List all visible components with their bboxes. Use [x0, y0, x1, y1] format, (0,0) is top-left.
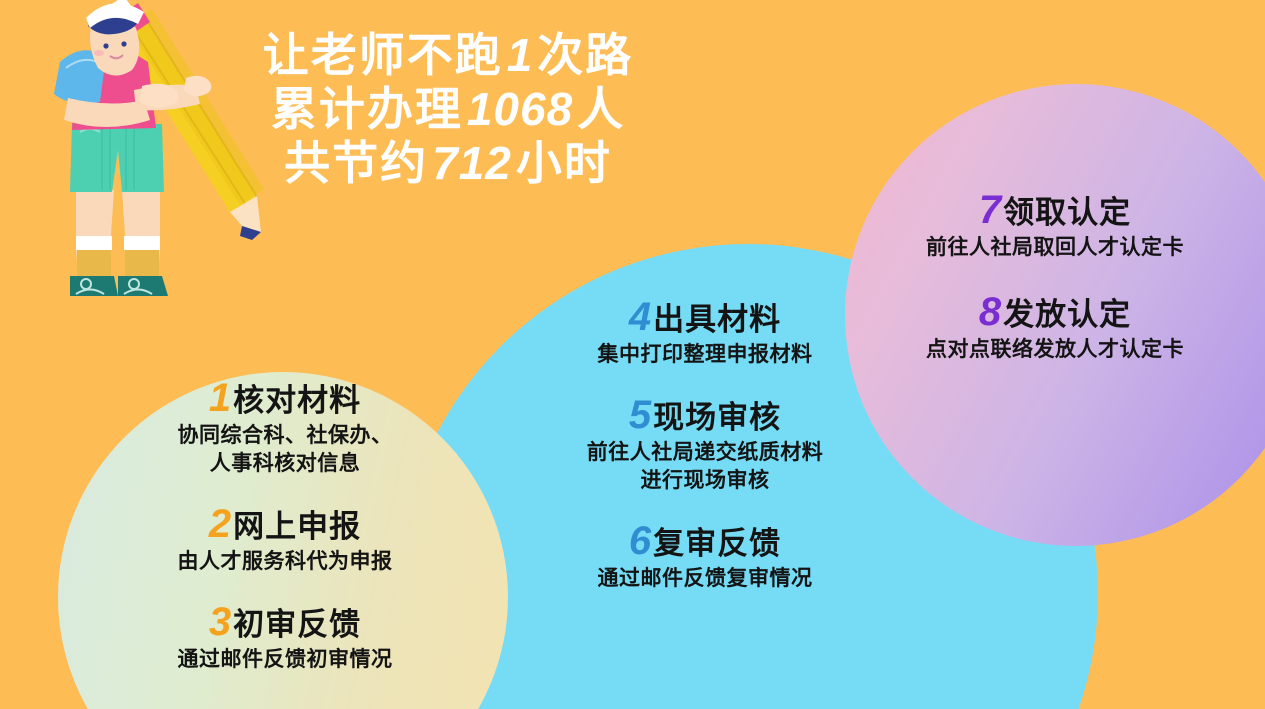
- step-title-2: 网上申报: [233, 511, 361, 542]
- step-heading-6: 6复审反馈: [540, 521, 870, 561]
- step-heading-7: 7领取认定: [890, 190, 1220, 230]
- step-number-8: 8: [979, 292, 1001, 332]
- step-heading-1: 1核对材料: [120, 378, 450, 418]
- headline-line-2-text-b: 人: [577, 83, 625, 135]
- step-group-1: 1核对材料协同综合科、社保办、人事科核对信息2网上申报由人才服务科代为申报3初审…: [120, 378, 450, 700]
- headline-line-1-text-a: 让老师不跑: [263, 29, 503, 81]
- headline-line-3: 共节约712小时: [238, 136, 658, 190]
- step-description-4-line-1: 集中打印整理申报材料: [540, 341, 870, 369]
- headline-line-3-text-b: 小时: [516, 137, 612, 189]
- step-description-5-line-2: 进行现场审核: [540, 467, 870, 495]
- step-description-5-line-1: 前往人社局递交纸质材料: [540, 439, 870, 467]
- headline-line-2-number: 1068: [463, 83, 577, 135]
- step-item-8: 8发放认定点对点联络发放人才认定卡: [890, 292, 1220, 364]
- headline-line-1-number: 1: [503, 29, 538, 81]
- headline-line-3-text-a: 共节约: [284, 137, 428, 189]
- step-group-3: 7领取认定前往人社局取回人才认定卡8发放认定点对点联络发放人才认定卡: [890, 190, 1220, 394]
- step-number-5: 5: [629, 395, 651, 435]
- step-heading-8: 8发放认定: [890, 292, 1220, 332]
- step-number-6: 6: [629, 521, 651, 561]
- step-title-8: 发放认定: [1003, 299, 1131, 330]
- step-heading-2: 2网上申报: [120, 504, 450, 544]
- headline-block: 让老师不跑1次路 累计办理1068人 共节约712小时: [238, 28, 658, 190]
- step-item-6: 6复审反馈通过邮件反馈复审情况: [540, 521, 870, 593]
- headline-line-2-text-a: 累计办理: [271, 83, 463, 135]
- infographic-poster: 让老师不跑1次路 累计办理1068人 共节约712小时 1核对材料协同综合科、社…: [0, 0, 1265, 709]
- headline-line-3-number: 712: [428, 137, 516, 189]
- step-number-1: 1: [209, 378, 231, 418]
- step-item-5: 5现场审核前往人社局递交纸质材料进行现场审核: [540, 395, 870, 495]
- headline-line-2: 累计办理1068人: [238, 82, 658, 136]
- step-group-2: 4出具材料集中打印整理申报材料5现场审核前往人社局递交纸质材料进行现场审核6复审…: [540, 297, 870, 619]
- step-number-7: 7: [979, 190, 1001, 230]
- step-item-7: 7领取认定前往人社局取回人才认定卡: [890, 190, 1220, 262]
- step-title-4: 出具材料: [653, 304, 781, 335]
- step-item-4: 4出具材料集中打印整理申报材料: [540, 297, 870, 369]
- step-number-4: 4: [629, 297, 651, 337]
- step-title-6: 复审反馈: [653, 528, 781, 559]
- step-heading-4: 4出具材料: [540, 297, 870, 337]
- step-heading-3: 3初审反馈: [120, 602, 450, 642]
- step-number-2: 2: [209, 504, 231, 544]
- step-description-1-line-1: 协同综合科、社保办、: [120, 422, 450, 450]
- step-description-3-line-1: 通过邮件反馈初审情况: [120, 646, 450, 674]
- step-description-8-line-1: 点对点联络发放人才认定卡: [890, 336, 1220, 364]
- shorts: [70, 124, 164, 192]
- step-description-1-line-2: 人事科核对信息: [120, 450, 450, 478]
- step-description-6-line-1: 通过邮件反馈复审情况: [540, 565, 870, 593]
- step-number-3: 3: [209, 602, 231, 642]
- headline-line-1: 让老师不跑1次路: [238, 28, 658, 82]
- step-description-2-line-1: 由人才服务科代为申报: [120, 548, 450, 576]
- step-title-3: 初审反馈: [233, 609, 361, 640]
- headline-line-1-text-b: 次路: [537, 29, 633, 81]
- step-item-1: 1核对材料协同综合科、社保办、人事科核对信息: [120, 378, 450, 478]
- step-item-3: 3初审反馈通过邮件反馈初审情况: [120, 602, 450, 674]
- step-description-7-line-1: 前往人社局取回人才认定卡: [890, 234, 1220, 262]
- step-item-2: 2网上申报由人才服务科代为申报: [120, 504, 450, 576]
- step-heading-5: 5现场审核: [540, 395, 870, 435]
- step-title-1: 核对材料: [233, 385, 361, 416]
- step-title-7: 领取认定: [1003, 197, 1131, 228]
- step-title-5: 现场审核: [653, 402, 781, 433]
